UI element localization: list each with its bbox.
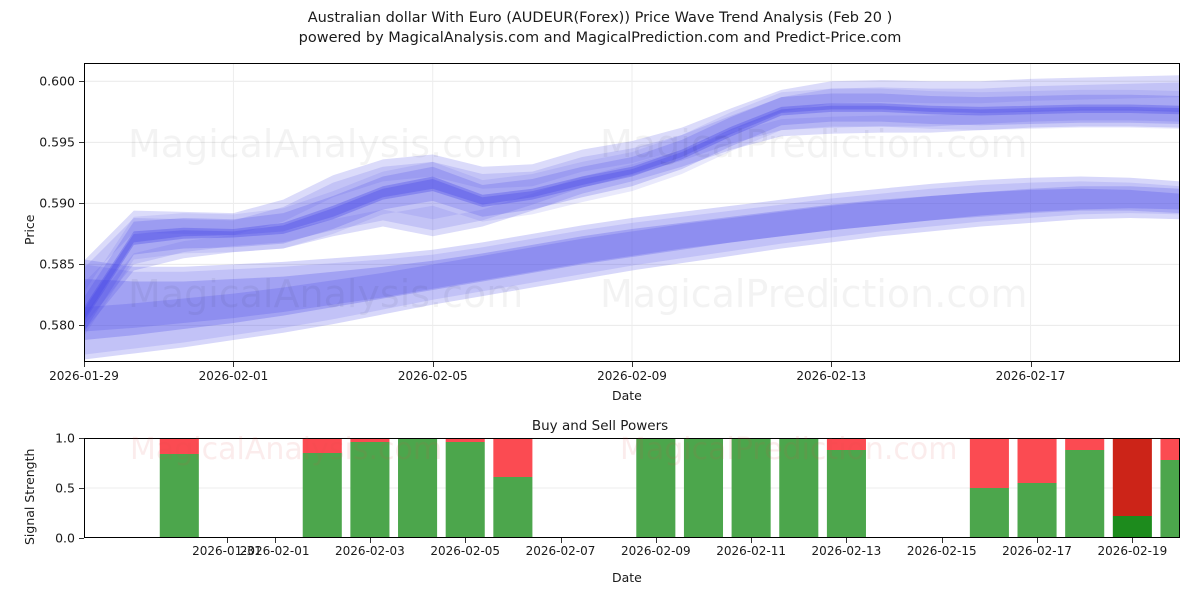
top-x-axis-title: Date xyxy=(612,388,642,403)
buy-power-bar[interactable] xyxy=(398,438,437,538)
sell-power-bar[interactable] xyxy=(1065,438,1104,450)
bottom-y-tick: 0.5 xyxy=(55,481,75,496)
title-line-2: powered by MagicalAnalysis.com and Magic… xyxy=(0,28,1200,48)
bottom-x-tick-mark xyxy=(275,538,276,543)
buy-power-bar[interactable] xyxy=(732,438,771,538)
bottom-x-tick: 2026-02-17 xyxy=(1002,544,1072,558)
price-wave-chart[interactable] xyxy=(84,63,1180,362)
top-x-tick-mark xyxy=(831,362,832,367)
sell-power-bar[interactable] xyxy=(160,438,199,454)
buy-power-bar[interactable] xyxy=(160,454,199,538)
bottom-x-tick: 2026-02-19 xyxy=(1097,544,1167,558)
sell-power-bar[interactable] xyxy=(1160,438,1180,460)
bottom-x-tick: 2026-02-15 xyxy=(907,544,977,558)
top-x-tick: 2026-01-29 xyxy=(49,369,119,383)
top-x-tick: 2026-02-09 xyxy=(597,369,667,383)
bottom-x-tick: 2026-02-05 xyxy=(430,544,500,558)
top-x-tick-mark xyxy=(233,362,234,367)
buy-power-bar[interactable] xyxy=(446,442,485,538)
bottom-x-tick-mark xyxy=(942,538,943,543)
top-x-tick: 2026-02-01 xyxy=(199,369,269,383)
bottom-x-tick-mark xyxy=(465,538,466,543)
buy-power-bar[interactable] xyxy=(970,488,1009,538)
top-y-axis-title: Price xyxy=(22,215,37,246)
buy-sell-title: Buy and Sell Powers xyxy=(0,418,1200,434)
bottom-x-axis-title: Date xyxy=(612,570,642,585)
page-title: Australian dollar With Euro (AUDEUR(Fore… xyxy=(0,8,1200,48)
bottom-x-tick-mark xyxy=(1037,538,1038,543)
price-wave-svg xyxy=(84,63,1180,362)
top-x-tick-mark xyxy=(433,362,434,367)
sell-power-bar[interactable] xyxy=(303,438,342,453)
buy-power-bar[interactable] xyxy=(636,438,675,538)
buy-power-bar[interactable] xyxy=(1160,460,1180,538)
buy-power-bar[interactable] xyxy=(1113,516,1152,538)
top-x-tick-mark xyxy=(632,362,633,367)
bottom-x-tick: 2026-02-01 xyxy=(240,544,310,558)
bottom-y-tick-mark xyxy=(79,538,84,539)
sell-power-bar[interactable] xyxy=(493,438,532,477)
sell-power-bar[interactable] xyxy=(350,438,389,442)
top-y-tick: 0.580 xyxy=(39,318,75,333)
top-x-tick: 2026-02-05 xyxy=(398,369,468,383)
buy-power-bar[interactable] xyxy=(350,442,389,538)
bottom-y-tick: 0.0 xyxy=(55,531,75,546)
buy-power-bar[interactable] xyxy=(827,450,866,538)
buy-power-bar[interactable] xyxy=(1018,483,1057,538)
sell-power-bar[interactable] xyxy=(1018,438,1057,483)
buy-sell-svg xyxy=(84,438,1180,538)
buy-power-bar[interactable] xyxy=(1065,450,1104,538)
bottom-y-axis-title: Signal Strength xyxy=(22,449,37,545)
bottom-x-tick-mark xyxy=(656,538,657,543)
top-x-tick-mark xyxy=(84,362,85,367)
top-y-tick: 0.595 xyxy=(39,135,75,150)
bottom-x-tick: 2026-02-11 xyxy=(716,544,786,558)
buy-power-bar[interactable] xyxy=(303,453,342,538)
bottom-x-tick: 2026-02-07 xyxy=(526,544,596,558)
buy-power-bar[interactable] xyxy=(779,438,818,538)
sell-power-bar[interactable] xyxy=(1113,438,1152,516)
chart-page: Australian dollar With Euro (AUDEUR(Fore… xyxy=(0,0,1200,600)
sell-power-bar[interactable] xyxy=(446,438,485,442)
sell-power-bar[interactable] xyxy=(827,438,866,450)
bottom-x-tick-mark xyxy=(1132,538,1133,543)
bottom-x-tick-mark xyxy=(846,538,847,543)
bottom-x-tick-mark xyxy=(561,538,562,543)
buy-sell-powers-chart[interactable] xyxy=(84,438,1180,538)
buy-power-bar[interactable] xyxy=(493,477,532,538)
bottom-x-tick: 2026-02-09 xyxy=(621,544,691,558)
title-line-1: Australian dollar With Euro (AUDEUR(Fore… xyxy=(0,8,1200,28)
top-y-tick: 0.590 xyxy=(39,196,75,211)
top-x-tick: 2026-02-17 xyxy=(996,369,1066,383)
top-y-tick: 0.585 xyxy=(39,257,75,272)
bottom-x-tick-mark xyxy=(370,538,371,543)
top-x-tick-mark xyxy=(1031,362,1032,367)
top-y-tick: 0.600 xyxy=(39,74,75,89)
bottom-x-tick: 2026-02-13 xyxy=(812,544,882,558)
bottom-x-tick-mark xyxy=(227,538,228,543)
bottom-x-tick-mark xyxy=(751,538,752,543)
bottom-y-tick: 1.0 xyxy=(55,431,75,446)
buy-power-bar[interactable] xyxy=(684,438,723,538)
sell-power-bar[interactable] xyxy=(970,438,1009,488)
bottom-x-tick: 2026-02-03 xyxy=(335,544,405,558)
top-x-tick: 2026-02-13 xyxy=(796,369,866,383)
